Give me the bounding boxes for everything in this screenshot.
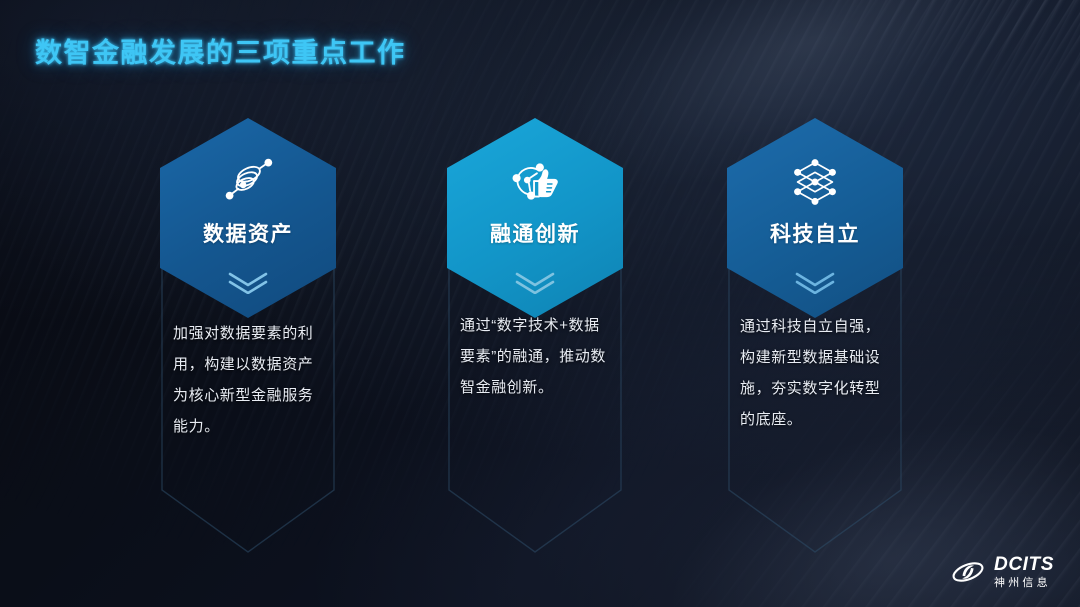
hex-badge-integration-innovation[interactable]: 融通创新: [447, 118, 623, 318]
double-chevron-down-icon: [792, 270, 838, 294]
pillar-label: 科技自立: [770, 218, 860, 248]
double-chevron-down-icon: [225, 270, 271, 294]
pillar-integration-innovation[interactable]: 融通创新 通过“数字技术+数据要素”的融通，推动数智金融创新。: [420, 118, 650, 318]
pillar-body-text: 加强对数据要素的利用，构建以数据资产为核心新型金融服务能力。: [173, 318, 323, 442]
layered-network-stack-icon: [784, 152, 846, 210]
pillar-tech-self-reliance[interactable]: 科技自立 通过科技自立自强，构建新型数据基础设施，夯实数字化转型的底座。: [700, 118, 930, 318]
pillar-body-text: 通过“数字技术+数据要素”的融通，推动数智金融创新。: [460, 310, 610, 403]
database-stack-node-icon: [217, 152, 279, 210]
pillar-label: 融通创新: [490, 218, 580, 248]
dcits-swoosh-icon: [951, 559, 985, 585]
thumbs-up-network-icon: [504, 152, 566, 210]
pillars-container: 数据资产 加强对数据要素的利用，构建以数据资产为核心新型金融服务能力。: [0, 0, 1080, 607]
slide-canvas: 数智金融发展的三项重点工作: [0, 0, 1080, 607]
hex-badge-tech-self-reliance[interactable]: 科技自立: [727, 118, 903, 318]
hex-badge-data-asset[interactable]: 数据资产: [160, 118, 336, 318]
pillar-body-text: 通过科技自立自强，构建新型数据基础设施，夯实数字化转型的底座。: [740, 311, 890, 435]
double-chevron-down-icon: [512, 270, 558, 294]
brand-logo: DCITS 神州信息: [951, 555, 1054, 589]
logo-name-cn: 神州信息: [994, 578, 1054, 589]
pillar-label: 数据资产: [203, 218, 293, 248]
logo-name-en: DCITS: [994, 555, 1054, 574]
pillar-data-asset[interactable]: 数据资产 加强对数据要素的利用，构建以数据资产为核心新型金融服务能力。: [133, 118, 363, 318]
